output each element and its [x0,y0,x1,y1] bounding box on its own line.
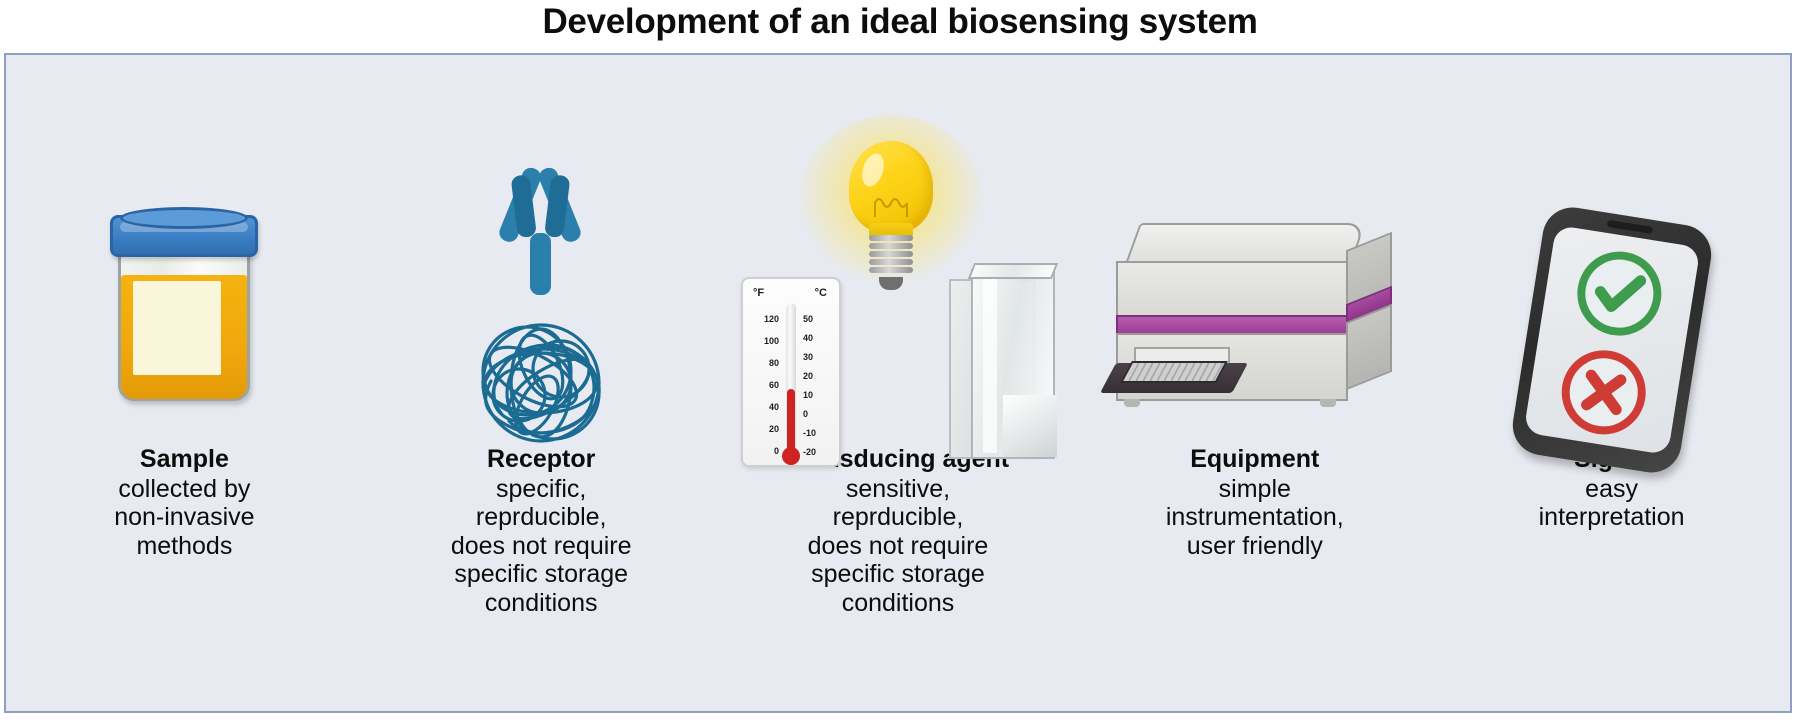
cup-liquid [121,275,247,399]
receptor-artwork [363,55,720,445]
thermometer-unit-fahrenheit: °F [753,287,764,299]
receptor-line-3: does not require [363,532,720,561]
cross-mark-icon [1555,344,1651,440]
column-container: Sample collected by non-invasive methods [6,55,1790,711]
signal-artwork [1433,55,1790,445]
c-tick-30: 30 [803,353,813,362]
f-tick-60: 60 [769,381,779,390]
f-tick-40: 40 [769,403,779,412]
equipment-heading: Equipment [1076,445,1433,474]
column-receptor: Receptor specific, reprducible, does not… [363,55,720,711]
f-tick-0: 0 [774,447,779,456]
lightbulb-filament [869,193,913,219]
instrument-lid-front [1116,261,1348,317]
c-tick-m20: -20 [803,448,816,457]
column-transducing-agent: °F °C 120 100 80 60 40 20 0 [720,55,1077,711]
diagram-panel: Sample collected by non-invasive methods [4,53,1792,713]
microplate-icon [1120,361,1228,383]
signal-line-2: interpretation [1433,503,1790,532]
transducing-agent-line-3: does not require [720,532,1077,561]
f-tick-100: 100 [764,337,779,346]
receptor-line-1: specific, [363,475,720,504]
aptamer-coil-icon [457,317,625,449]
equipment-caption: Equipment simple instrumentation, user f… [1076,445,1433,560]
c-tick-10: 10 [803,391,813,400]
sample-heading: Sample [6,445,363,474]
c-tick-0: 0 [803,410,808,419]
c-tick-m10: -10 [803,429,816,438]
cup-lid-top [120,207,248,229]
antibody-icon [466,163,616,298]
thermometer-icon: °F °C 120 100 80 60 40 20 0 [741,277,841,467]
transducing-agent-line-1: sensitive, [720,475,1077,504]
urine-sample-cup-icon [104,185,264,415]
receptor-heading: Receptor [363,445,720,474]
transducing-agent-line-4: specific storage [720,560,1077,589]
c-tick-40: 40 [803,334,813,343]
column-equipment: Equipment simple instrumentation, user f… [1076,55,1433,711]
receptor-line-5: conditions [363,589,720,618]
f-tick-20: 20 [769,425,779,434]
transducing-agent-line-2: reprducible, [720,503,1077,532]
instrument-foot-left [1124,399,1140,407]
equipment-line-3: user friendly [1076,532,1433,561]
figure-canvas: Development of an ideal biosensing syste… [0,0,1800,723]
antibody-stem [530,233,551,295]
cuvette-icon [947,269,1059,469]
sample-artwork [6,55,363,445]
column-sample: Sample collected by non-invasive methods [6,55,363,711]
transducing-agent-caption: Transducing agent sensitive, reprducible… [720,445,1077,617]
smartphone-result-icon [1508,203,1715,477]
receptor-line-2: reprducible, [363,503,720,532]
plate-reader-instrument-icon [1110,223,1400,423]
instrument-foot-right [1320,399,1336,407]
cuvette-front-face [971,269,1055,459]
transducing-agent-artwork: °F °C 120 100 80 60 40 20 0 [720,55,1077,445]
lightbulb-glass [849,141,933,233]
check-mark-icon [1571,246,1667,342]
transducing-agent-line-5: conditions [720,589,1077,618]
instrument-stripe-front [1116,315,1348,335]
cuvette-rim [967,263,1057,279]
thermometer-mercury [787,389,795,453]
equipment-line-2: instrumentation, [1076,503,1433,532]
equipment-artwork [1076,55,1433,445]
signal-line-1: easy [1433,475,1790,504]
sample-line-1: collected by [6,475,363,504]
f-tick-120: 120 [764,315,779,324]
c-tick-20: 20 [803,372,813,381]
c-tick-50: 50 [803,315,813,324]
column-signal: Signal easy interpretation [1433,55,1790,711]
thermometer-bulb [782,447,800,465]
lightbulb-screw-base [869,235,913,279]
thermometer-unit-celsius: °C [815,287,827,299]
figure-title: Development of an ideal biosensing syste… [0,2,1800,42]
receptor-line-4: specific storage [363,560,720,589]
lightbulb-contact-tip [879,277,903,290]
f-tick-80: 80 [769,359,779,368]
sample-caption: Sample collected by non-invasive methods [6,445,363,560]
sample-line-3: methods [6,532,363,561]
sample-line-2: non-invasive [6,503,363,532]
equipment-line-1: simple [1076,475,1433,504]
lightbulb-icon [825,137,957,297]
receptor-caption: Receptor specific, reprducible, does not… [363,445,720,617]
